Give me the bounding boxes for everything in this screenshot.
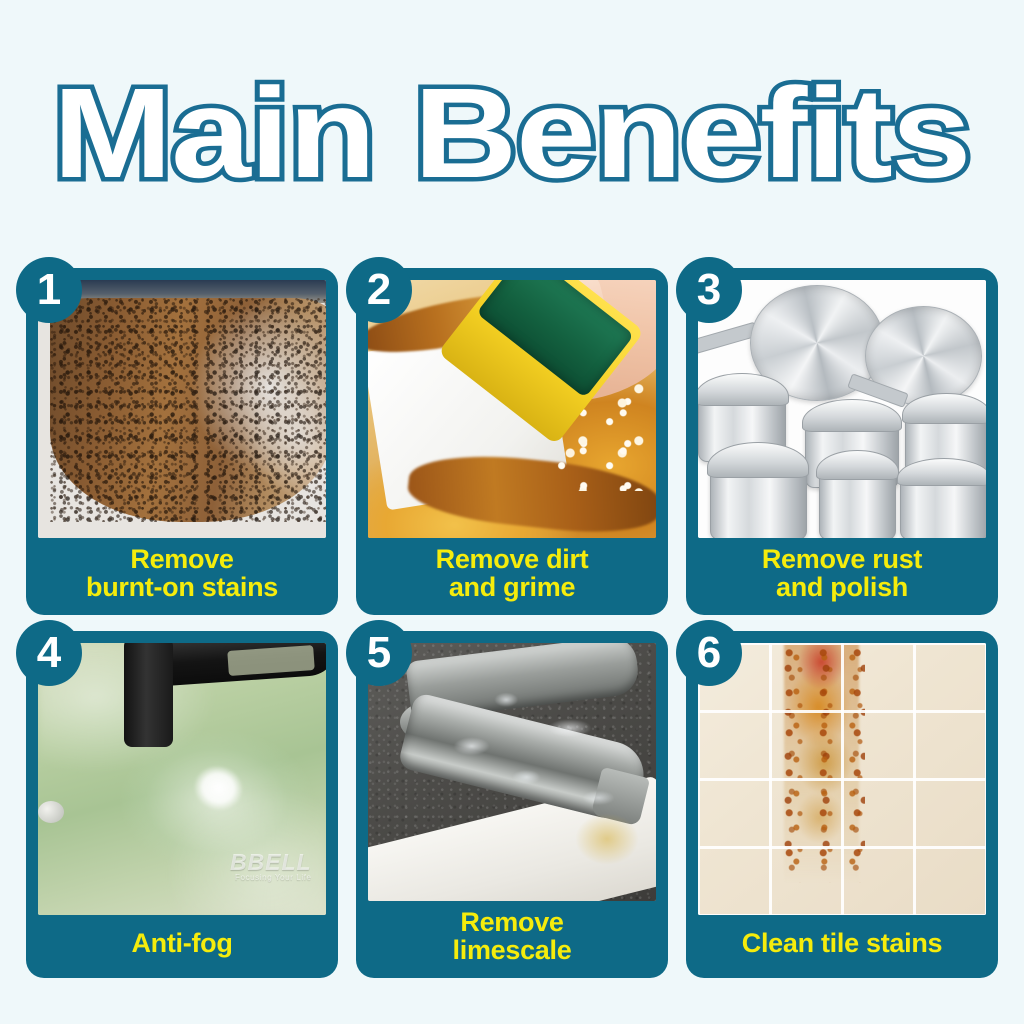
watermark-brand: BBELL xyxy=(230,849,312,875)
benefit-number-badge-3: 3 xyxy=(676,257,742,323)
limescale-faucet-photo xyxy=(368,643,656,901)
benefit-card-2[interactable]: 2 Remove dirt and grime xyxy=(356,268,668,615)
dirty-plate-illustration xyxy=(368,280,656,538)
benefit-card-5[interactable]: 5 Remove limescale xyxy=(356,631,668,978)
benefit-caption-1: Remove burnt-on stains xyxy=(38,538,326,615)
tile-grout-lines xyxy=(698,643,986,915)
caption-line-2: and grime xyxy=(370,573,654,602)
tile-wall-illustration xyxy=(698,643,986,915)
burnt-pot-illustration xyxy=(38,280,326,538)
benefit-number-badge-6: 6 xyxy=(676,620,742,686)
caption-line-2: burnt-on stains xyxy=(40,573,324,602)
bbell-watermark: BBELL Focusing Your Life xyxy=(230,850,312,883)
cookware-illustration xyxy=(698,280,986,538)
benefits-grid: 1 Remove burnt-on stains 2 xyxy=(26,268,998,978)
stainless-steel-cookware-set-photo xyxy=(698,280,986,538)
foggy-green-glass-photo: BBELL Focusing Your Life xyxy=(38,643,326,915)
page-header: Main Benefits xyxy=(0,64,1024,204)
stained-tile-wall-photo xyxy=(698,643,986,915)
pot-body xyxy=(50,298,326,522)
saucepan-right-lid xyxy=(902,393,986,423)
burnt-pot-photo xyxy=(38,280,326,538)
black-handle-vertical xyxy=(124,643,173,747)
benefit-card-4[interactable]: 4 BBELL Focusing Your Life Anti-fog xyxy=(26,631,338,978)
page-title: Main Benefits xyxy=(53,70,970,198)
benefit-card-1[interactable]: 1 Remove burnt-on stains xyxy=(26,268,338,615)
yellow-residue xyxy=(575,813,638,865)
benefit-number-badge-1: 1 xyxy=(16,257,82,323)
benefit-number-badge-5: 5 xyxy=(346,620,412,686)
caption-line-2: and polish xyxy=(700,573,984,602)
benefit-caption-3: Remove rust and polish xyxy=(698,538,986,615)
foggy-glass-illustration: BBELL Focusing Your Life xyxy=(38,643,326,915)
benefit-caption-2: Remove dirt and grime xyxy=(368,538,656,615)
caption-line-2: limescale xyxy=(370,936,654,965)
benefit-caption-6: Clean tile stains xyxy=(698,915,986,978)
benefit-number-badge-2: 2 xyxy=(346,257,412,323)
small-knob xyxy=(38,801,64,823)
watermark-tagline: Focusing Your Life xyxy=(230,874,312,882)
caption-line-1: Remove xyxy=(40,545,324,574)
benefit-card-6[interactable]: 6 Clean tile stains xyxy=(686,631,998,978)
caption-line-1: Remove rust xyxy=(700,545,984,574)
benefit-caption-5: Remove limescale xyxy=(368,901,656,978)
burnt-speckle-texture xyxy=(50,298,326,522)
sponge-cleaning-dirty-plate-photo xyxy=(368,280,656,538)
caption-line-1: Remove xyxy=(370,908,654,937)
caption-line-1: Remove dirt xyxy=(370,545,654,574)
limescale-faucet-illustration xyxy=(368,643,656,901)
caption-line-1: Clean tile stains xyxy=(700,929,984,958)
benefit-number-badge-4: 4 xyxy=(16,620,82,686)
benefit-card-3[interactable]: 3 Remove rust a xyxy=(686,268,998,615)
caption-line-1: Anti-fog xyxy=(40,929,324,958)
benefit-caption-4: Anti-fog xyxy=(38,915,326,978)
saucepan-center-lid xyxy=(802,399,902,432)
